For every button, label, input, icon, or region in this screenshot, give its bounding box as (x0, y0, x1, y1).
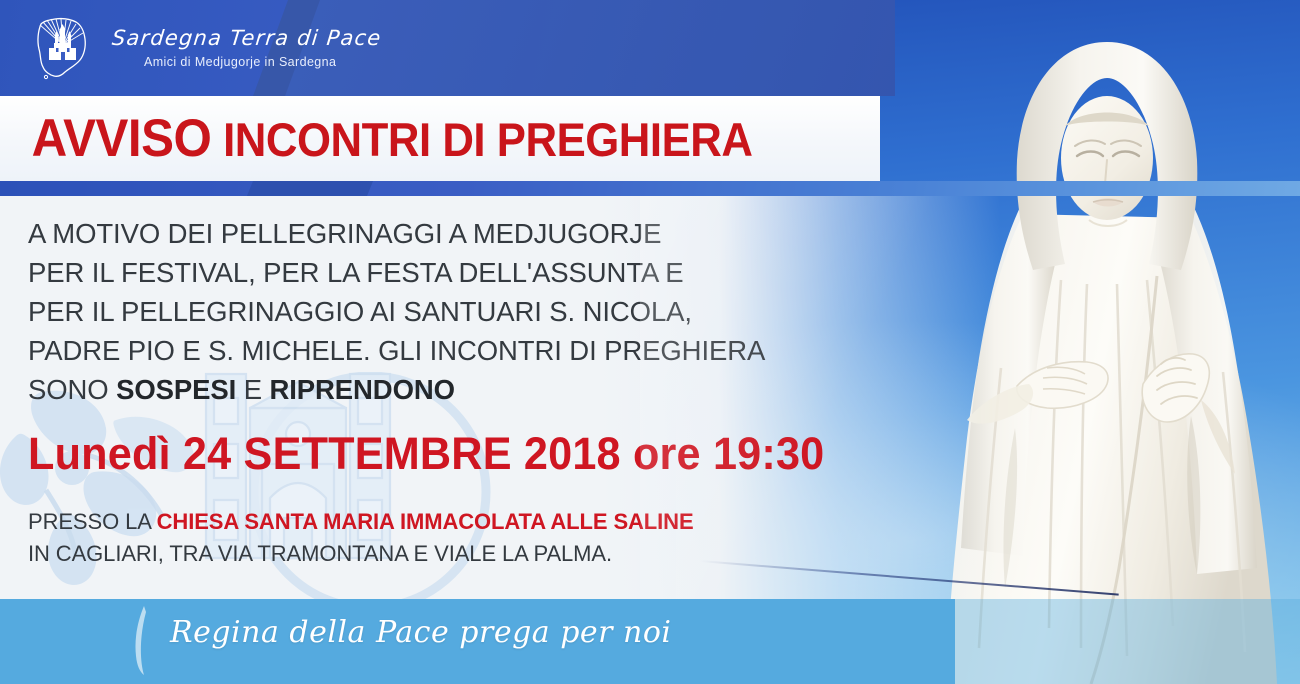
footer-motto: Regina della Pace prega per noi (170, 615, 672, 650)
body-bold-sospesi: SOSPESI (116, 374, 236, 405)
accent-stripe-diagonal (247, 181, 373, 196)
venue-line-1: PRESSO LA CHIESA SANTA MARIA IMMACOLATA … (28, 506, 1000, 538)
page-title: AVVISO INCONTRI DI PREGHIERA (0, 112, 752, 165)
poster-canvas: Sardegna Terra di Pace Amici di Medjugor… (0, 0, 1300, 684)
venue-block: PRESSO LA CHIESA SANTA MARIA IMMACOLATA … (28, 506, 1000, 570)
body-bold-riprendono: RIPRENDONO (270, 374, 455, 405)
brand-title: Sardegna Terra di Pace (111, 28, 383, 49)
title-rest: INCONTRI DI PREGHIERA (211, 113, 752, 166)
accent-stripe (0, 181, 1300, 196)
body-line-2: PER IL FESTIVAL, PER LA FESTA DELL'ASSUN… (28, 253, 1000, 292)
sardegna-map-church-logo-icon (32, 15, 94, 81)
footer-flourish-icon (128, 604, 154, 676)
body-paragraph: A MOTIVO DEI PELLEGRINAGGI A MEDJUGORJE … (28, 214, 1000, 409)
body-line-4: PADRE PIO E S. MICHELE. GLI INCONTRI DI … (28, 331, 1000, 370)
body-line-1: A MOTIVO DEI PELLEGRINAGGI A MEDJUGORJE (28, 214, 1000, 253)
title-band: AVVISO INCONTRI DI PREGHIERA (0, 96, 880, 181)
brand-header: Sardegna Terra di Pace Amici di Medjugor… (0, 0, 895, 96)
content-panel: A MOTIVO DEI PELLEGRINAGGI A MEDJUGORJE … (0, 196, 1000, 599)
body-line-5-mid: E (236, 374, 269, 405)
title-emphasis: AVVISO (32, 109, 212, 168)
brand-subtitle: Amici di Medjugorje in Sardegna (144, 56, 381, 69)
venue-prefix: PRESSO LA (28, 509, 157, 534)
venue-line-2: IN CAGLIARI, TRA VIA TRAMONTANA E VIALE … (28, 538, 1000, 570)
body-line-5-prefix: SONO (28, 374, 116, 405)
event-date: Lunedì 24 SETTEMBRE 2018 ore 19:30 (28, 431, 961, 476)
body-line-3: PER IL PELLEGRINAGGIO AI SANTUARI S. NIC… (28, 292, 1000, 331)
body-line-5: SONO SOSPESI E RIPRENDONO (28, 370, 1000, 409)
footer-band-overlay (955, 599, 1300, 684)
venue-church-name: CHIESA SANTA MARIA IMMACOLATA ALLE SALIN… (157, 509, 694, 534)
